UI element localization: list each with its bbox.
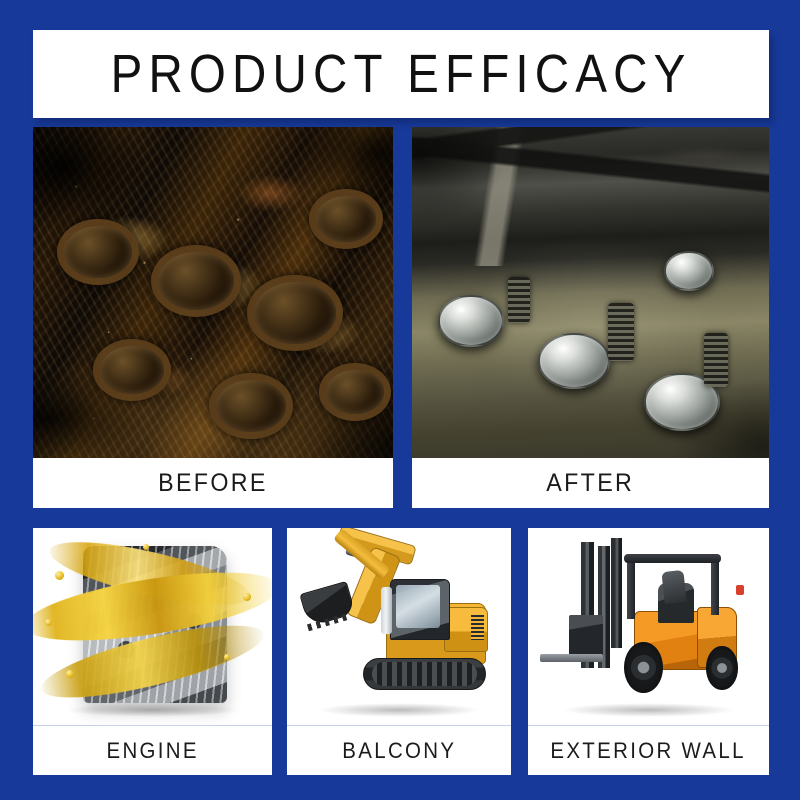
- comparison-card-before: BEFORE: [33, 127, 393, 508]
- page-title: PRODUCT EFFICACY: [111, 47, 692, 101]
- orange-forklift-photo: [528, 528, 769, 725]
- clean-engine-head-photo: [412, 127, 769, 458]
- caption-before: BEFORE: [33, 458, 393, 508]
- application-card-exterior-wall: EXTERIOR WALL: [528, 528, 769, 775]
- comparison-card-after: AFTER: [412, 127, 769, 508]
- comparison-label-after: AFTER: [547, 471, 635, 496]
- application-card-balcony: BALCONY: [287, 528, 511, 775]
- caption-exterior-wall: EXTERIOR WALL: [528, 725, 769, 775]
- yellow-excavator-photo: [287, 528, 511, 725]
- comparison-label-before: BEFORE: [158, 471, 268, 496]
- application-label-engine: ENGINE: [106, 740, 198, 762]
- caption-engine: ENGINE: [33, 725, 272, 775]
- title-banner: PRODUCT EFFICACY: [33, 30, 769, 118]
- application-label-exterior-wall: EXTERIOR WALL: [551, 740, 746, 762]
- dirty-engine-valvetrain-photo: [33, 127, 393, 458]
- application-label-balcony: BALCONY: [342, 740, 456, 762]
- infographic-root: PRODUCT EFFICACY BEFORE: [0, 0, 800, 800]
- application-card-engine: ENGINE: [33, 528, 272, 775]
- caption-balcony: BALCONY: [287, 725, 511, 775]
- engine-with-oil-splash-photo: [33, 528, 272, 725]
- caption-after: AFTER: [412, 458, 769, 508]
